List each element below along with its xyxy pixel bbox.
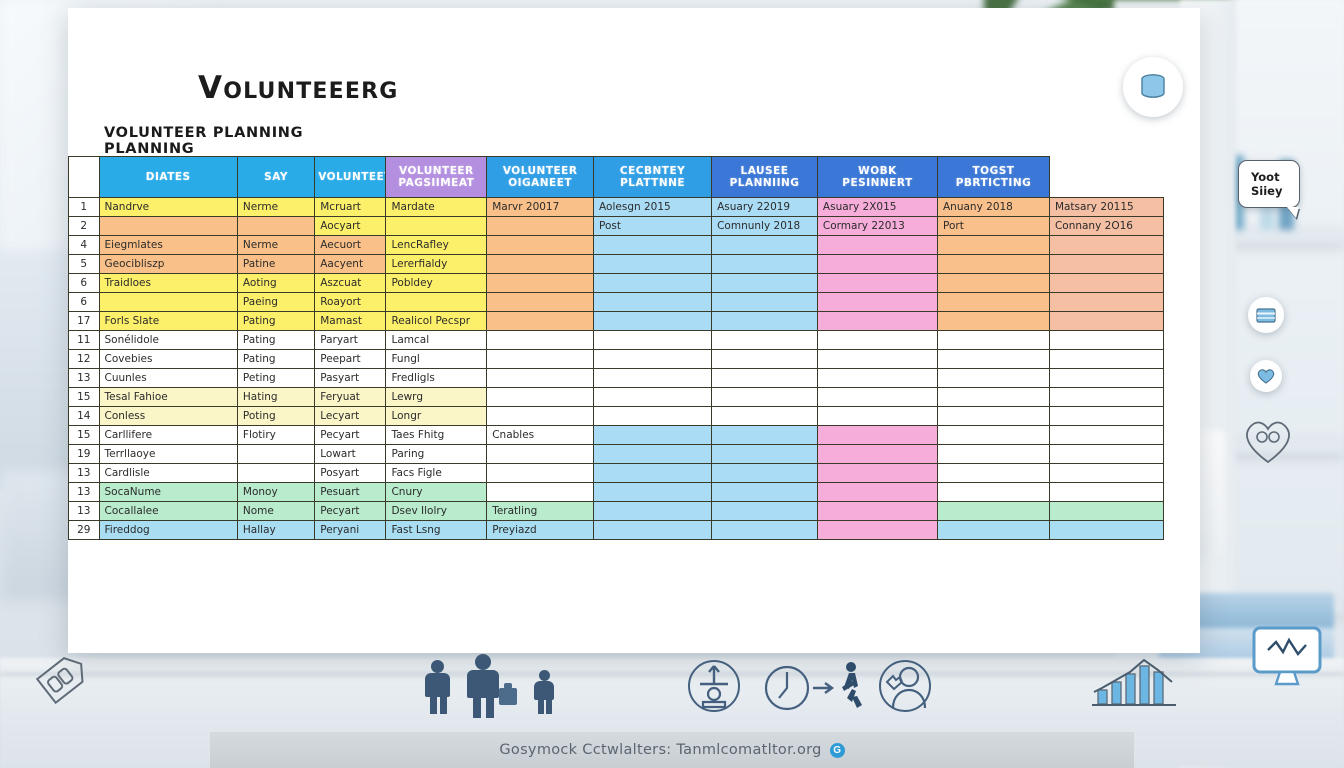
cell-r5-c8[interactable] (938, 293, 1050, 312)
cell-r3-c4[interactable] (487, 255, 594, 274)
bar-chart-icon (1086, 650, 1182, 712)
cell-r12-c3[interactable]: Taes Fhitg (386, 426, 487, 445)
award-stand-icon (682, 656, 746, 720)
row-number: 11 (69, 331, 100, 350)
cell-r15-c0[interactable]: SocaNume (99, 483, 237, 502)
table-row[interactable]: 6TraidloesAotingAszcuatPobldey (69, 274, 1164, 293)
cell-r15-c5[interactable] (594, 483, 712, 502)
cell-r12-c0[interactable]: Carllifere (99, 426, 237, 445)
cell-r10-c1[interactable]: Hating (237, 388, 314, 407)
cell-r6-c6[interactable] (712, 312, 818, 331)
cell-r15-c6[interactable] (712, 483, 818, 502)
page-title: Volunteeerg (198, 70, 399, 106)
person-avatar-icon (873, 656, 937, 720)
monitor-chart-badge[interactable] (1250, 624, 1324, 688)
row-number: 4 (69, 236, 100, 255)
table-row[interactable]: 13SocaNumeMonoyPesuartCnury (69, 483, 1164, 502)
cell-r8-c8[interactable] (938, 350, 1050, 369)
table-row[interactable]: 15CarllifereFlotiryPecyartTaes FhitgCnab… (69, 426, 1164, 445)
cell-r2-c7[interactable] (817, 236, 937, 255)
cell-r14-c6[interactable] (712, 464, 818, 483)
cell-r15-c3[interactable]: Cnury (386, 483, 487, 502)
col-header-volunteer-assignment[interactable]: VOLUNTEER PAGSIIMEAT (386, 157, 487, 198)
cell-r14-c9[interactable] (1049, 464, 1163, 483)
cell-r0-c4[interactable]: Marvr 20017 (487, 198, 594, 217)
cell-r4-c2[interactable]: Aszcuat (315, 274, 386, 293)
cell-r13-c5[interactable] (594, 445, 712, 464)
cell-r3-c9[interactable] (1049, 255, 1163, 274)
col-header-dates[interactable]: DIATES (99, 157, 237, 198)
cell-r8-c3[interactable]: Fungl (386, 350, 487, 369)
cell-r10-c8[interactable] (938, 388, 1050, 407)
cell-r13-c6[interactable] (712, 445, 818, 464)
row-number: 15 (69, 388, 100, 407)
cell-r9-c4[interactable] (487, 369, 594, 388)
tooltip-bubble: Yoot Siiey (1238, 160, 1300, 208)
col-header-work-assignment[interactable]: WOBK PESINNERT (817, 157, 937, 198)
planning-table-wrapper: DIATESSAYVOLUNTEETVOLUNTEER PAGSIIMEATVO… (68, 156, 1200, 540)
cell-r15-c9[interactable] (1049, 483, 1163, 502)
cell-r2-c9[interactable] (1049, 236, 1163, 255)
cell-r2-c1[interactable]: Nerme (237, 236, 314, 255)
cell-r10-c2[interactable]: Feryuat (315, 388, 386, 407)
cell-r1-c8[interactable]: Port (938, 217, 1050, 236)
row-number: 12 (69, 350, 100, 369)
cell-r9-c2[interactable]: Pasyart (315, 369, 386, 388)
col-header-volunteer-organised[interactable]: VOLUNTEER OIGANEET (487, 157, 594, 198)
cell-r4-c1[interactable]: Aoting (237, 274, 314, 293)
row-number: 14 (69, 407, 100, 426)
cell-r1-c0[interactable] (99, 217, 237, 236)
cell-r11-c1[interactable]: Poting (237, 407, 314, 426)
table-row[interactable]: 14ConlessPotingLecyartLongr (69, 407, 1164, 426)
cell-r4-c6[interactable] (712, 274, 818, 293)
cell-r5-c4[interactable] (487, 293, 594, 312)
cell-r1-c6[interactable]: Comnunly 2018 (712, 217, 818, 236)
cell-r12-c7[interactable] (817, 426, 937, 445)
cell-r14-c3[interactable]: Facs Figle (386, 464, 487, 483)
cell-r10-c0[interactable]: Tesal Fahioe (99, 388, 237, 407)
cell-r11-c0[interactable]: Conless (99, 407, 237, 426)
cell-r17-c1[interactable]: Hallay (237, 521, 314, 540)
cell-r3-c8[interactable] (938, 255, 1050, 274)
cell-r0-c5[interactable]: Aolesgn 2015 (594, 198, 712, 217)
cell-r7-c4[interactable] (487, 331, 594, 350)
cell-r15-c8[interactable] (938, 483, 1050, 502)
cell-r16-c0[interactable]: Cocallalee (99, 502, 237, 521)
cell-r13-c0[interactable]: Terrllaoye (99, 445, 237, 464)
cell-r1-c3[interactable] (386, 217, 487, 236)
cell-r7-c1[interactable]: Pating (237, 331, 314, 350)
col-header-celebrity-planning[interactable]: CECBNTEY PLATTNNE (594, 157, 712, 198)
cell-r1-c2[interactable]: Aocyart (315, 217, 386, 236)
volunteer-planning-table: DIATESSAYVOLUNTEETVOLUNTEER PAGSIIMEATVO… (68, 156, 1164, 540)
cell-r9-c1[interactable]: Peting (237, 369, 314, 388)
cell-r4-c7[interactable] (817, 274, 937, 293)
cell-r2-c6[interactable] (712, 236, 818, 255)
cell-r16-c5[interactable] (594, 502, 712, 521)
cell-r3-c2[interactable]: Aacyent (315, 255, 386, 274)
col-header-lausee-planning[interactable]: LAUSEE PLANNIING (712, 157, 818, 198)
cell-r0-c9[interactable]: Matsary 20115 (1049, 198, 1163, 217)
cell-r6-c5[interactable] (594, 312, 712, 331)
col-header-say[interactable]: SAY (237, 157, 314, 198)
cell-r7-c8[interactable] (938, 331, 1050, 350)
cell-r4-c0[interactable]: Traidloes (99, 274, 237, 293)
cell-r6-c0[interactable]: Forls Slate (99, 312, 237, 331)
cell-r5-c7[interactable] (817, 293, 937, 312)
cell-r5-c0[interactable] (99, 293, 237, 312)
database-badge[interactable] (1123, 57, 1183, 117)
table-row[interactable]: 6PaeingRoayort (69, 293, 1164, 312)
cell-r16-c7[interactable] (817, 502, 937, 521)
footer-bar: Gosymock Cctwlalters: Tanmlcomatltor.org… (210, 732, 1134, 768)
cell-r14-c8[interactable] (938, 464, 1050, 483)
heart-outline-icon (1247, 423, 1289, 462)
cell-r3-c5[interactable] (594, 255, 712, 274)
cell-r12-c5[interactable] (594, 426, 712, 445)
cell-r0-c6[interactable]: Asuary 22019 (712, 198, 818, 217)
cell-r10-c5[interactable] (594, 388, 712, 407)
cell-r17-c9[interactable] (1049, 521, 1163, 540)
table-row[interactable]: 17Forls SlatePatingMamastRealicol Pecspr (69, 312, 1164, 331)
row-number: 15 (69, 426, 100, 445)
cell-r14-c7[interactable] (817, 464, 937, 483)
cell-r1-c1[interactable] (237, 217, 314, 236)
table-row[interactable]: 5GeocibliszpPatineAacyentLererfialdy (69, 255, 1164, 274)
cell-r9-c5[interactable] (594, 369, 712, 388)
cell-r0-c7[interactable]: Asuary 2X015 (817, 198, 937, 217)
cell-r12-c6[interactable] (712, 426, 818, 445)
table-row[interactable]: 29FireddogHallayPeryaniFast LsngPreyiazd (69, 521, 1164, 540)
row-number: 2 (69, 217, 100, 236)
cell-r16-c8[interactable] (938, 502, 1050, 521)
cell-r6-c8[interactable] (938, 312, 1050, 331)
cell-r10-c6[interactable] (712, 388, 818, 407)
cell-r12-c8[interactable] (938, 426, 1050, 445)
folder-icon (1255, 305, 1277, 325)
row-number: 5 (69, 255, 100, 274)
row-number: 17 (69, 312, 100, 331)
col-header-togst-participating[interactable]: TOGST PBRTICTING (938, 157, 1050, 198)
cell-r17-c7[interactable] (817, 521, 937, 540)
folder-badge[interactable] (1248, 297, 1284, 333)
cell-r13-c2[interactable]: Lowart (315, 445, 386, 464)
cell-r11-c6[interactable] (712, 407, 818, 426)
document-subtitle: VOLUNTEER PLANNING PLANNING (104, 125, 303, 157)
cell-r14-c5[interactable] (594, 464, 712, 483)
cell-r11-c8[interactable] (938, 407, 1050, 426)
cell-r9-c0[interactable]: Cuunles (99, 369, 237, 388)
table-row[interactable]: 12CovebiesPatingPeepartFungl (69, 350, 1164, 369)
cell-r8-c0[interactable]: Covebies (99, 350, 237, 369)
row-number: 6 (69, 274, 100, 293)
cell-r17-c0[interactable]: Fireddog (99, 521, 237, 540)
cell-r14-c4[interactable] (487, 464, 594, 483)
cell-r4-c9[interactable] (1049, 274, 1163, 293)
cell-r0-c0[interactable]: Nandrve (99, 198, 237, 217)
heart-icon (1256, 367, 1276, 385)
cell-r3-c3[interactable]: Lererfialdy (386, 255, 487, 274)
cell-r13-c3[interactable]: Paring (386, 445, 487, 464)
cell-r15-c4[interactable] (487, 483, 594, 502)
cell-r3-c0[interactable]: Geocibliszp (99, 255, 237, 274)
heart-outline-badge[interactable] (1240, 415, 1296, 467)
table-row[interactable]: 13CardlislePosyartFacs Figle (69, 464, 1164, 483)
cell-r7-c6[interactable] (712, 331, 818, 350)
cell-r6-c4[interactable] (487, 312, 594, 331)
cell-r12-c4[interactable]: Cnables (487, 426, 594, 445)
cell-r14-c0[interactable]: Cardlisle (99, 464, 237, 483)
cell-r5-c5[interactable] (594, 293, 712, 312)
cell-r7-c5[interactable] (594, 331, 712, 350)
database-icon (1136, 70, 1170, 104)
cell-r10-c7[interactable] (817, 388, 937, 407)
cell-r17-c8[interactable] (938, 521, 1050, 540)
table-row[interactable]: 4EiegmlatesNermeAecuortLencRafley (69, 236, 1164, 255)
tooltip-line-1: Yoot (1251, 170, 1287, 184)
cell-r8-c5[interactable] (594, 350, 712, 369)
cell-r0-c3[interactable]: Mardate (386, 198, 487, 217)
cell-r13-c8[interactable] (938, 445, 1050, 464)
cell-r11-c2[interactable]: Lecyart (315, 407, 386, 426)
cell-r7-c3[interactable]: Lamcal (386, 331, 487, 350)
row-number: 13 (69, 502, 100, 521)
document-sheet: Volunteeerg VOLUNTEER PLANNING PLANNING … (68, 8, 1200, 653)
cell-r14-c2[interactable]: Posyart (315, 464, 386, 483)
row-number: 13 (69, 483, 100, 502)
cell-r6-c3[interactable]: Realicol Pecspr (386, 312, 487, 331)
table-body: 1NandrveNermeMcruartMardateMarvr 20017Ao… (69, 198, 1164, 540)
cell-r17-c4[interactable]: Preyiazd (487, 521, 594, 540)
cell-r15-c7[interactable] (817, 483, 937, 502)
tooltip-line-2: Siiey (1251, 184, 1287, 198)
footer-badge[interactable]: G (830, 743, 845, 758)
cell-r12-c9[interactable] (1049, 426, 1163, 445)
cell-r4-c4[interactable] (487, 274, 594, 293)
cell-r11-c5[interactable] (594, 407, 712, 426)
cell-r1-c4[interactable] (487, 217, 594, 236)
cell-r11-c9[interactable] (1049, 407, 1163, 426)
col-header-corner (69, 157, 100, 198)
row-number: 29 (69, 521, 100, 540)
cell-r16-c3[interactable]: Dsev Ilolry (386, 502, 487, 521)
col-header-volunteer[interactable]: VOLUNTEET (315, 157, 386, 198)
table-header-row: DIATESSAYVOLUNTEETVOLUNTEER PAGSIIMEATVO… (69, 157, 1164, 198)
heart-badge[interactable] (1250, 360, 1282, 392)
cell-r11-c3[interactable]: Longr (386, 407, 487, 426)
cell-r3-c7[interactable] (817, 255, 937, 274)
footer-text: Gosymock Cctwlalters: Tanmlcomatltor.org (499, 742, 821, 758)
cell-r15-c1[interactable]: Monoy (237, 483, 314, 502)
table-row[interactable]: 15Tesal FahioeHatingFeryuatLewrg (69, 388, 1164, 407)
table-row[interactable]: 11SonélidolePatingParyartLamcal (69, 331, 1164, 350)
subtitle-line-1: VOLUNTEER PLANNING (104, 125, 303, 141)
table-row[interactable]: 2AocyartPostComnunly 2018Cormary 22013Po… (69, 217, 1164, 236)
cell-r3-c1[interactable]: Patine (237, 255, 314, 274)
cell-r11-c4[interactable] (487, 407, 594, 426)
cell-r12-c2[interactable]: Pecyart (315, 426, 386, 445)
row-number: 13 (69, 369, 100, 388)
cell-r11-c7[interactable] (817, 407, 937, 426)
cell-r2-c3[interactable]: LencRafley (386, 236, 487, 255)
row-number: 6 (69, 293, 100, 312)
cell-r17-c3[interactable]: Fast Lsng (386, 521, 487, 540)
table-row[interactable]: 19TerrllaoyeLowartParing (69, 445, 1164, 464)
cell-r6-c2[interactable]: Mamast (315, 312, 386, 331)
cell-r4-c3[interactable]: Pobldey (386, 274, 487, 293)
cell-r12-c1[interactable]: Flotiry (237, 426, 314, 445)
table-row[interactable]: 13CocallaleeNomePecyartDsev IlolryTeratl… (69, 502, 1164, 521)
cell-r7-c9[interactable] (1049, 331, 1163, 350)
cell-r4-c5[interactable] (594, 274, 712, 293)
cell-r5-c9[interactable] (1049, 293, 1163, 312)
cell-r8-c9[interactable] (1049, 350, 1163, 369)
cell-r5-c2[interactable]: Roayort (315, 293, 386, 312)
row-number: 19 (69, 445, 100, 464)
cell-r16-c1[interactable]: Nome (237, 502, 314, 521)
cell-r0-c2[interactable]: Mcruart (315, 198, 386, 217)
cell-r16-c2[interactable]: Pecyart (315, 502, 386, 521)
cell-r3-c6[interactable] (712, 255, 818, 274)
cell-r5-c6[interactable] (712, 293, 818, 312)
cell-r6-c7[interactable] (817, 312, 937, 331)
cell-r9-c6[interactable] (712, 369, 818, 388)
cell-r17-c5[interactable] (594, 521, 712, 540)
cell-r5-c1[interactable]: Paeing (237, 293, 314, 312)
cell-r10-c9[interactable] (1049, 388, 1163, 407)
cell-r8-c4[interactable] (487, 350, 594, 369)
cell-r4-c8[interactable] (938, 274, 1050, 293)
cell-r17-c2[interactable]: Peryani (315, 521, 386, 540)
cell-r9-c3[interactable]: Fredligls (386, 369, 487, 388)
cell-r2-c8[interactable] (938, 236, 1050, 255)
cell-r7-c2[interactable]: Paryart (315, 331, 386, 350)
subtitle-line-2: PLANNING (104, 141, 303, 157)
cell-r16-c4[interactable]: Teratling (487, 502, 594, 521)
cell-r15-c2[interactable]: Pesuart (315, 483, 386, 502)
row-number: 13 (69, 464, 100, 483)
cell-r1-c7[interactable]: Cormary 22013 (817, 217, 937, 236)
cell-r14-c1[interactable] (237, 464, 314, 483)
cell-r8-c7[interactable] (817, 350, 937, 369)
cell-r13-c7[interactable] (817, 445, 937, 464)
cell-r13-c4[interactable] (487, 445, 594, 464)
cell-r8-c6[interactable] (712, 350, 818, 369)
cell-r0-c1[interactable]: Nerme (237, 198, 314, 217)
cell-r2-c0[interactable]: Eiegmlates (99, 236, 237, 255)
cell-r9-c8[interactable] (938, 369, 1050, 388)
clock-walking-icon (763, 658, 873, 720)
cell-r9-c7[interactable] (817, 369, 937, 388)
cell-r1-c9[interactable]: Connany 2O16 (1049, 217, 1163, 236)
cell-r10-c3[interactable]: Lewrg (386, 388, 487, 407)
cell-r10-c4[interactable] (487, 388, 594, 407)
cell-r5-c3[interactable] (386, 293, 487, 312)
cell-r2-c2[interactable]: Aecuort (315, 236, 386, 255)
cell-r13-c1[interactable] (237, 445, 314, 464)
cell-r16-c6[interactable] (712, 502, 818, 521)
cell-r2-c5[interactable] (594, 236, 712, 255)
cell-r7-c7[interactable] (817, 331, 937, 350)
cell-r0-c8[interactable]: Anuany 2018 (938, 198, 1050, 217)
table-row[interactable]: 1NandrveNermeMcruartMardateMarvr 20017Ao… (69, 198, 1164, 217)
price-tag-icon (28, 643, 98, 713)
cell-r16-c9[interactable] (1049, 502, 1163, 521)
cell-r9-c9[interactable] (1049, 369, 1163, 388)
cell-r6-c1[interactable]: Pating (237, 312, 314, 331)
table-row[interactable]: 13CuunlesPetingPasyartFredligls (69, 369, 1164, 388)
cell-r13-c9[interactable] (1049, 445, 1163, 464)
cell-r1-c5[interactable]: Post (594, 217, 712, 236)
cell-r6-c9[interactable] (1049, 312, 1163, 331)
cell-r8-c1[interactable]: Pating (237, 350, 314, 369)
cell-r17-c6[interactable] (712, 521, 818, 540)
cell-r8-c2[interactable]: Peepart (315, 350, 386, 369)
cell-r7-c0[interactable]: Sonélidole (99, 331, 237, 350)
row-number: 1 (69, 198, 100, 217)
cell-r2-c4[interactable] (487, 236, 594, 255)
